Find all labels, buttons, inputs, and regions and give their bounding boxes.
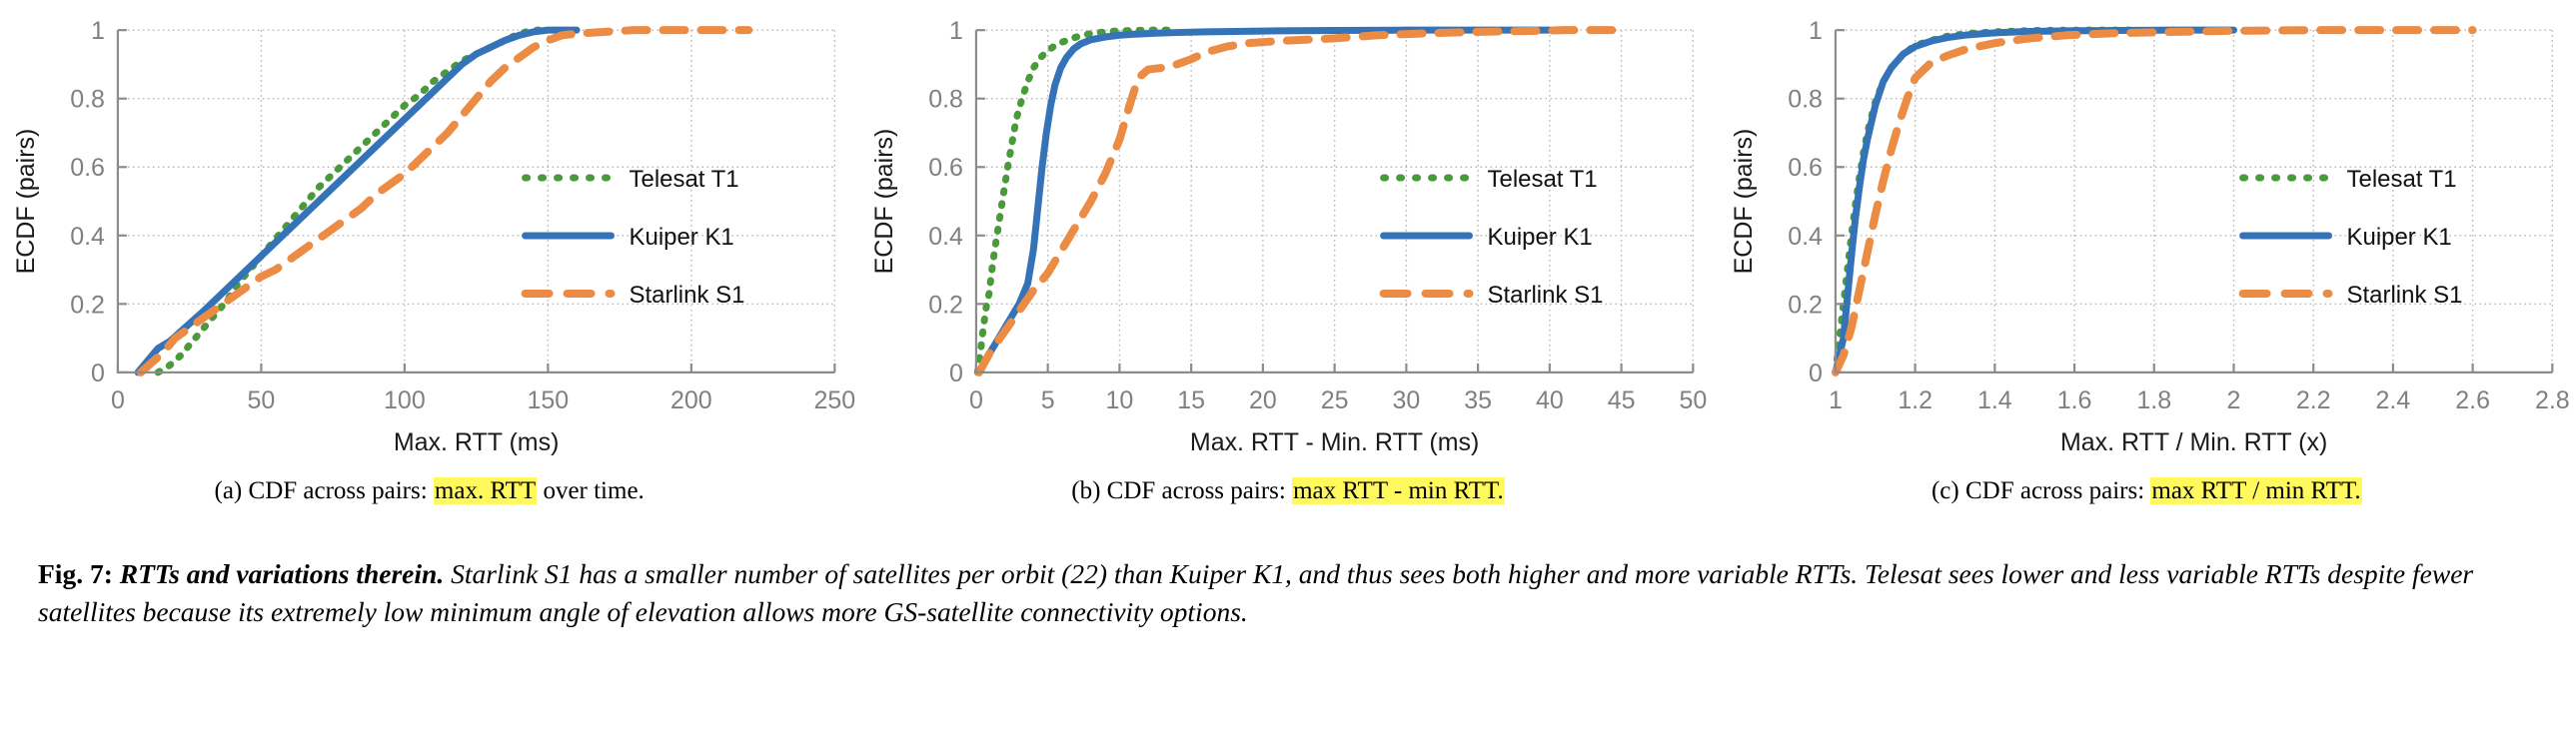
x-tick-label: 100 xyxy=(384,386,426,414)
y-tick-label: 1 xyxy=(91,17,105,45)
y-tick-label: 0.4 xyxy=(70,223,105,251)
legend-label-starlink-s1: Starlink S1 xyxy=(630,282,745,309)
legend-label-starlink-s1: Starlink S1 xyxy=(1488,282,1604,309)
x-tick-label: 0 xyxy=(969,386,983,414)
axis-spine xyxy=(118,30,834,373)
y-tick-label: 0.4 xyxy=(1788,223,1823,251)
subcaption-a-after: over time. xyxy=(543,477,644,504)
legend-label-telesat-t1: Telesat T1 xyxy=(1488,166,1598,193)
x-tick-label: 50 xyxy=(248,386,276,414)
axis-spine xyxy=(1836,30,2552,373)
x-tick-label: 2.4 xyxy=(2375,386,2410,414)
x-tick-label: 45 xyxy=(1608,386,1636,414)
chart-b: 0510152025303540455000.20.40.60.81Max. R… xyxy=(858,0,1717,469)
y-tick-label: 0 xyxy=(949,360,963,387)
y-tick-label: 1 xyxy=(1809,17,1823,45)
x-tick-label: 40 xyxy=(1536,386,1564,414)
x-tick-label: 1.2 xyxy=(1898,386,1932,414)
legend-label-telesat-t1: Telesat T1 xyxy=(2346,166,2456,193)
x-tick-label: 25 xyxy=(1321,386,1349,414)
legend-label-kuiper-k1: Kuiper K1 xyxy=(2346,224,2451,251)
y-tick-label: 0.6 xyxy=(1788,154,1823,182)
subcaption-c-before: CDF across pairs: xyxy=(1965,477,2144,504)
legend-label-starlink-s1: Starlink S1 xyxy=(2346,282,2462,309)
subcaption-b: (b) CDF across pairs: max RTT - min RTT. xyxy=(858,477,1717,505)
x-tick-label: 2 xyxy=(2226,386,2240,414)
y-tick-label: 0.8 xyxy=(70,86,105,114)
panel-row: 05010015020025000.20.40.60.81Max. RTT (m… xyxy=(0,0,2576,544)
y-axis-label: ECDF (pairs) xyxy=(870,129,898,275)
chart-b-svg: 0510152025303540455000.20.40.60.81Max. R… xyxy=(858,0,1717,469)
panel-c: 11.21.41.61.822.22.42.62.800.20.40.60.81… xyxy=(1718,0,2576,544)
series-line-telesat-t1 xyxy=(158,30,543,373)
x-tick-label: 50 xyxy=(1680,386,1708,414)
x-tick-label: 150 xyxy=(528,386,570,414)
y-tick-label: 0.6 xyxy=(70,154,105,182)
chart-a: 05010015020025000.20.40.60.81Max. RTT (m… xyxy=(0,0,858,469)
x-tick-label: 250 xyxy=(814,386,856,414)
x-tick-label: 1.8 xyxy=(2136,386,2171,414)
subcaption-b-highlight: max RTT - min RTT. xyxy=(1292,477,1505,504)
y-axis-label: ECDF (pairs) xyxy=(12,129,40,275)
y-tick-label: 0.8 xyxy=(929,86,964,114)
y-tick-label: 0 xyxy=(91,360,105,387)
legend-label-telesat-t1: Telesat T1 xyxy=(630,166,739,193)
subcaption-b-prefix: (b) xyxy=(1071,477,1100,504)
series-line-starlink-s1 xyxy=(979,30,1622,373)
y-tick-label: 0.6 xyxy=(929,154,964,182)
x-tick-label: 10 xyxy=(1106,386,1134,414)
x-tick-label: 2.6 xyxy=(2455,386,2490,414)
x-tick-label: 30 xyxy=(1393,386,1421,414)
chart-c-svg: 11.21.41.61.822.22.42.62.800.20.40.60.81… xyxy=(1718,0,2576,469)
x-tick-label: 1.4 xyxy=(1977,386,2012,414)
subcaption-a-before: CDF across pairs: xyxy=(249,477,428,504)
x-tick-label: 0 xyxy=(111,386,125,414)
y-tick-label: 0 xyxy=(1809,360,1823,387)
figure-caption: Fig. 7: RTTs and variations therein. Sta… xyxy=(38,555,2548,631)
panel-b: 0510152025303540455000.20.40.60.81Max. R… xyxy=(858,0,1717,544)
x-axis-label: Max. RTT / Min. RTT (x) xyxy=(2060,428,2327,456)
x-tick-label: 20 xyxy=(1249,386,1277,414)
subcaption-c: (c) CDF across pairs: max RTT / min RTT. xyxy=(1718,477,2576,505)
y-tick-label: 0.2 xyxy=(1788,291,1823,319)
y-tick-label: 0.4 xyxy=(929,223,964,251)
subcaption-a-prefix: (a) xyxy=(215,477,243,504)
y-axis-label: ECDF (pairs) xyxy=(1730,129,1758,275)
x-tick-label: 2.2 xyxy=(2295,386,2330,414)
figure-caption-prefix: Fig. 7: xyxy=(38,558,113,589)
x-tick-label: 1.6 xyxy=(2056,386,2091,414)
x-tick-label: 5 xyxy=(1041,386,1055,414)
y-tick-label: 1 xyxy=(949,17,963,45)
x-tick-label: 1 xyxy=(1829,386,1843,414)
y-tick-label: 0.2 xyxy=(929,291,964,319)
x-tick-label: 200 xyxy=(670,386,712,414)
series-line-kuiper-k1 xyxy=(979,30,1550,373)
subcaption-a: (a) CDF across pairs: max. RTT over time… xyxy=(0,477,858,505)
series-line-kuiper-k1 xyxy=(1836,30,2234,373)
chart-c: 11.21.41.61.822.22.42.62.800.20.40.60.81… xyxy=(1718,0,2576,469)
x-axis-label: Max. RTT (ms) xyxy=(394,428,560,456)
figure-7: 05010015020025000.20.40.60.81Max. RTT (m… xyxy=(0,0,2576,755)
figure-caption-title: RTTs and variations therein. xyxy=(120,558,444,589)
legend-label-kuiper-k1: Kuiper K1 xyxy=(630,224,734,251)
y-tick-label: 0.8 xyxy=(1788,86,1823,114)
panel-a: 05010015020025000.20.40.60.81Max. RTT (m… xyxy=(0,0,858,544)
x-tick-label: 2.8 xyxy=(2535,386,2570,414)
chart-a-svg: 05010015020025000.20.40.60.81Max. RTT (m… xyxy=(0,0,858,469)
x-tick-label: 15 xyxy=(1178,386,1206,414)
subcaption-a-highlight: max. RTT xyxy=(434,477,537,504)
y-tick-label: 0.2 xyxy=(70,291,105,319)
x-axis-label: Max. RTT - Min. RTT (ms) xyxy=(1190,428,1479,456)
legend-label-kuiper-k1: Kuiper K1 xyxy=(1488,224,1593,251)
subcaption-c-prefix: (c) xyxy=(1932,477,1959,504)
x-tick-label: 35 xyxy=(1465,386,1493,414)
subcaption-b-before: CDF across pairs: xyxy=(1107,477,1286,504)
subcaption-c-highlight: max RTT / min RTT. xyxy=(2150,477,2361,504)
